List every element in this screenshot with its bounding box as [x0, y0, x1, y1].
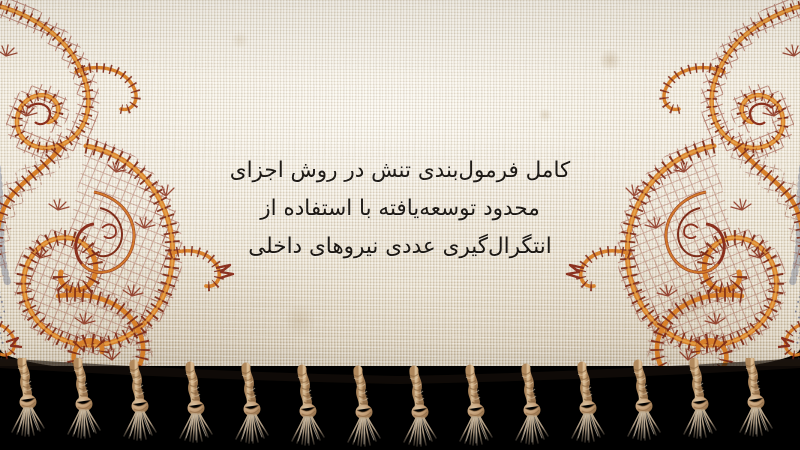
title-line-2: محدود توسعه‌یافته با استفاده از	[170, 190, 630, 228]
title-text-block: کامل فرمول‌بندی تنش در روش اجزای محدود ت…	[170, 152, 630, 266]
title-card-stage: کامل فرمول‌بندی تنش در روش اجزای محدود ت…	[0, 0, 800, 450]
title-line-1: کامل فرمول‌بندی تنش در روش اجزای	[170, 152, 630, 190]
title-line-3: انتگرال‌گیری عددی نیروهای داخلی	[170, 228, 630, 266]
